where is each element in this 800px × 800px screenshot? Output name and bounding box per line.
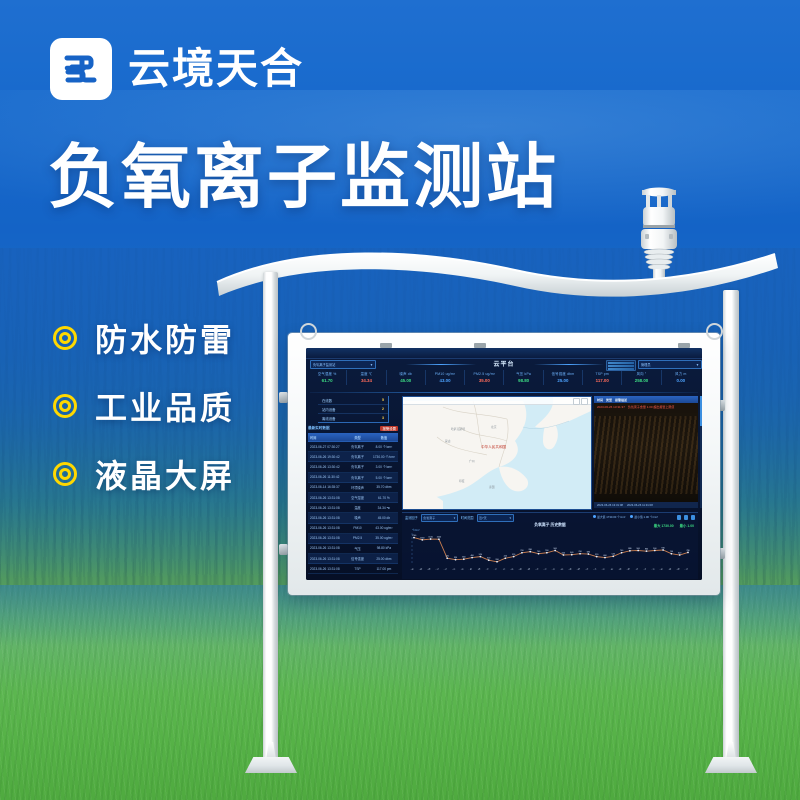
chart-legend: 最大值 1730.00 个/cm³ 最小值 1.00 个/cm³ — [593, 515, 658, 519]
table-row[interactable]: 2023-06-26 13:31:08气压98.80 kPa — [308, 544, 398, 554]
cabinet-latch — [380, 343, 392, 348]
realtime-data-table: 时间 类型 数值 2023-06-27 07:30:27负氧离子8.00 个/c… — [308, 433, 398, 574]
cell-type: TSP — [345, 567, 370, 571]
cell-time: 2023-06-27 07:30:27 — [308, 445, 345, 449]
line-chart-icon[interactable] — [684, 515, 688, 520]
cell-value: 43.00 ug/m³ — [370, 526, 398, 530]
left-bracket-upper — [279, 392, 288, 403]
chart-tool-icons[interactable] — [677, 515, 695, 520]
camera-timestamp-left: 2023-06-26 13:31:08 — [597, 503, 623, 507]
table-row[interactable]: 2023-06-26 13:30:42负氧离子3.00 个/cm³ — [308, 462, 398, 472]
cell-time: 2023-06-26 13:31:08 — [308, 557, 345, 561]
bar-chart-icon[interactable] — [677, 515, 681, 520]
cell-time: 2023-06-26 13:31:08 — [308, 526, 345, 530]
factor-select[interactable]: 负氧离子 ▾ — [421, 514, 458, 522]
camera-feed-panel[interactable]: 时间 类型 报警描述 2023-06-26 13:31:37 负氧离子含量 1.… — [594, 396, 698, 508]
account-select[interactable]: 管理员 ▼ — [638, 360, 702, 369]
cell-value: 98.80 kPa — [370, 546, 398, 550]
metric-card: 噪声 db 45.00 — [386, 370, 425, 385]
cell-type: 信号强度 — [345, 556, 370, 561]
chevron-down-icon: ▾ — [509, 516, 511, 520]
readout-max: 最大 1730.00 — [654, 523, 674, 528]
history-chart-panel: 监测因子 负氧离子 ▾ 时间范围 近7天 ▾ 最大值 1730 — [402, 512, 698, 579]
readout-min: 最小 1.00 — [680, 523, 694, 528]
metric-value: 35.00 — [465, 377, 503, 384]
cell-time: 2023-06-26 13:31:08 — [308, 546, 345, 550]
cell-type: 噪声 — [345, 515, 370, 520]
map-city-label: 蒙古 — [445, 439, 451, 443]
metric-underline — [310, 392, 698, 393]
cell-type: 负氧离子 — [345, 475, 370, 480]
chevron-down-icon: ▼ — [370, 363, 373, 367]
stat-label: 离线设备 — [322, 416, 336, 421]
range-select-value: 近7天 — [479, 516, 487, 520]
metric-value: 0.00 — [662, 377, 700, 384]
chart-filter-bar: 监测因子 负氧离子 ▾ 时间范围 近7天 ▾ 最大值 1730 — [402, 513, 698, 522]
metric-card: PM2.5 ug/m³ 35.00 — [464, 370, 503, 385]
metric-card: TSP pm 117.00 — [582, 370, 621, 385]
cell-value: 5.00 个/cm³ — [370, 475, 398, 480]
metric-card: 风力 m 0.00 — [661, 370, 700, 385]
cell-value: 35.70 dbm — [370, 485, 398, 489]
alarm-col-desc: 报警描述 — [612, 398, 627, 402]
metric-value: 258.00 — [622, 377, 660, 384]
cell-type: PM2.5 — [345, 536, 370, 540]
cell-time: 2023-06-26 13:31:08 — [308, 536, 345, 540]
stat-row: 站内设备 2 — [318, 405, 388, 414]
station-map[interactable]: 中华人民共和国 哈萨克斯坦 北京 蒙古 广州 印度 泰国 — [402, 396, 592, 510]
table-row[interactable]: 2023-06-26 19:30:42负氧离子1730.00 个/cm³ — [308, 452, 398, 462]
alarm-row[interactable]: 2023-06-26 13:31:37 负氧离子含量 1.00 超出报警上限值 — [594, 403, 698, 410]
stat-label: 站内设备 — [322, 407, 336, 412]
display-cabinet: 云平台 负氧离子监测站 ▼ 管理员 ▼ — [288, 333, 720, 595]
map-zoom-out-button[interactable] — [573, 398, 580, 405]
metric-value: 25.00 — [544, 377, 582, 384]
metric-value: 61.70 — [308, 377, 346, 384]
metric-card: 空气湿度 % 61.70 — [308, 370, 346, 385]
map-toolbar[interactable] — [403, 397, 591, 405]
range-select[interactable]: 近7天 ▾ — [477, 514, 514, 522]
table-row[interactable]: 2023-06-26 13:31:08噪声45.00 db — [308, 513, 398, 523]
table-row[interactable]: 2023-06-26 13:31:08PM1043.00 ug/m³ — [308, 524, 398, 534]
metric-strip: 空气湿度 % 61.70 温度 ℃ 34.34 噪声 db 45.00 PM — [308, 370, 700, 385]
metric-value: 98.80 — [504, 377, 542, 384]
table-caption-bar: 最新实时数据 报警设置 — [308, 426, 398, 431]
table-caption: 最新实时数据 — [308, 426, 330, 431]
factor-filter-label: 监测因子 — [405, 515, 418, 520]
cell-time: 2023-06-26 13:31:08 — [308, 496, 345, 500]
column-header-type: 类型 — [345, 435, 370, 440]
cell-value: 35.00 ug/m³ — [370, 536, 398, 540]
metric-value: 34.34 — [347, 377, 385, 384]
stat-row: 在线数 5 — [318, 396, 388, 405]
station-select[interactable]: 负氧离子监测站 ▼ — [310, 360, 376, 369]
left-base-plate — [245, 757, 297, 773]
alarm-settings-button[interactable]: 报警设置 — [380, 426, 398, 431]
metric-value: 45.00 — [387, 377, 425, 384]
cell-type: 负氧离子 — [345, 444, 370, 449]
metric-value: 43.00 — [426, 377, 464, 384]
cell-type: PM10 — [345, 526, 370, 530]
metric-card: 温度 ℃ 34.34 — [346, 370, 385, 385]
camera-image — [594, 416, 698, 494]
cell-value: 117.00 pm — [370, 567, 398, 571]
factor-select-value: 负氧离子 — [423, 516, 435, 520]
dashboard-screen: 云平台 负氧离子监测站 ▼ 管理员 ▼ — [306, 348, 702, 580]
cell-time: 2023-06-26 19:30:42 — [308, 455, 345, 459]
title-decor-left — [406, 364, 476, 365]
map-city-label: 印度 — [459, 479, 465, 483]
cell-time: 2023-06-26 13:31:08 — [308, 506, 345, 510]
legend-label: 最大值 1730.00 个/cm³ — [597, 515, 625, 519]
cell-time: 2023-06-26 13:31:08 — [308, 567, 345, 571]
cell-type: 负氧离子 — [345, 464, 370, 469]
left-bracket-lower — [279, 544, 288, 555]
metric-card: 气压 kPa 98.80 — [503, 370, 542, 385]
camera-footer: 2023-06-26 13:31:08 2023-06-26 11:31:08 — [594, 502, 698, 508]
cell-time: 2023-06-26 13:31:08 — [308, 516, 345, 520]
account-select-value: 管理员 — [641, 362, 651, 367]
cell-type: 负氧离子 — [345, 454, 370, 459]
display-bezel: 云平台 负氧离子监测站 ▼ 管理员 ▼ — [306, 348, 702, 580]
map-city-label: 广州 — [469, 459, 475, 463]
map-country-label: 中华人民共和国 — [481, 445, 506, 450]
cell-time: 2023-06-26 11:30:42 — [308, 475, 345, 479]
cell-type: 温度 — [345, 505, 370, 510]
table-row[interactable]: 2023-06-26 13:31:08PM2.535.00 ug/m³ — [308, 534, 398, 544]
table-row[interactable]: 2023-06-14 16:35:37环境噪声35.70 dbm — [308, 483, 398, 493]
right-base-plate — [705, 757, 757, 773]
metric-card: 风向 ° 258.00 — [621, 370, 660, 385]
legend-label: 最小值 1.00 个/cm³ — [634, 515, 658, 519]
alarm-col-time: 时间 — [594, 398, 603, 402]
monitoring-station: 云平台 负氧离子监测站 ▼ 管理员 ▼ — [0, 0, 800, 800]
alarm-text: 负氧离子含量 1.00 超出报警上限值 — [625, 405, 675, 409]
chart-readout: 最大 1730.00 最小 1.00 — [654, 523, 694, 528]
chevron-down-icon: ▼ — [696, 363, 699, 367]
alarm-time: 2023-06-26 13:31:37 — [594, 405, 625, 409]
cell-value: 25.00 dbm — [370, 557, 398, 561]
lifting-eye-icon — [300, 323, 317, 340]
cell-type: 空气湿度 — [345, 495, 370, 500]
alarm-col-type: 类型 — [603, 398, 612, 402]
map-city-label: 哈萨克斯坦 — [451, 427, 465, 431]
cell-value: 34.34 ℃ — [370, 506, 398, 510]
right-support-post — [723, 290, 739, 762]
stat-label: 在线数 — [322, 398, 332, 403]
metric-value: 117.00 — [583, 377, 621, 384]
cabinet-latch — [474, 343, 486, 348]
lifting-eye-icon — [706, 323, 723, 340]
table-row[interactable]: 2023-06-26 13:31:08温度34.34 ℃ — [308, 503, 398, 513]
download-icon[interactable] — [691, 515, 695, 520]
stat-row: 离线设备 3 — [318, 414, 388, 423]
camera-timestamp-right: 2023-06-26 11:31:08 — [627, 503, 653, 507]
metric-card: 信号强度 dbm 25.00 — [543, 370, 582, 385]
cabinet-latch — [678, 343, 690, 348]
product-poster: 云境天合 负氧离子监测站 防水防雷 工业品质 液晶大屏 — [0, 0, 800, 800]
table-row[interactable]: 2023-06-26 13:31:08空气湿度61.70 % — [308, 493, 398, 503]
table-row[interactable]: 2023-06-27 07:30:27负氧离子8.00 个/cm³ — [308, 442, 398, 452]
cell-value: 45.00 db — [370, 516, 398, 520]
cell-type: 气压 — [345, 546, 370, 551]
map-city-label: 泰国 — [489, 485, 495, 489]
table-row[interactable]: 2023-06-26 13:31:08信号强度25.00 dbm — [308, 554, 398, 564]
stat-value: 3 — [382, 416, 384, 420]
cell-time: 2023-06-14 16:35:37 — [308, 485, 345, 489]
metric-card: PM10 ug/m³ 43.00 — [425, 370, 464, 385]
table-header-row: 时间 类型 数值 — [308, 433, 398, 442]
legend-item-min: 最小值 1.00 个/cm³ — [630, 515, 658, 519]
column-header-value: 数值 — [370, 435, 398, 440]
cell-value: 61.70 % — [370, 496, 398, 500]
stat-value: 5 — [382, 398, 384, 402]
cell-time: 2023-06-26 13:30:42 — [308, 465, 345, 469]
column-header-time: 时间 — [308, 435, 345, 440]
cell-value: 8.00 个/cm³ — [370, 444, 398, 449]
chart-plot — [410, 530, 692, 570]
chevron-down-icon: ▾ — [454, 516, 456, 520]
table-row[interactable]: 2023-06-26 11:30:42负氧离子5.00 个/cm³ — [308, 473, 398, 483]
map-zoom-in-button[interactable] — [581, 398, 588, 405]
wave-canopy — [215, 248, 780, 308]
range-filter-label: 时间范围 — [461, 515, 474, 520]
legend-item-max: 最大值 1730.00 个/cm³ — [593, 515, 625, 519]
screen-topbar — [306, 348, 702, 359]
left-support-post — [263, 272, 278, 762]
cell-value: 1730.00 个/cm³ — [370, 454, 398, 459]
table-row[interactable]: 2023-06-26 13:31:08TSP117.00 pm — [308, 564, 398, 574]
title-decor-right — [534, 364, 604, 365]
station-select-value: 负氧离子监测站 — [313, 362, 335, 367]
panel-scrollbar[interactable] — [700, 396, 702, 508]
stat-value: 2 — [382, 407, 384, 411]
cell-value: 3.00 个/cm³ — [370, 464, 398, 469]
map-city-label: 北京 — [491, 425, 497, 429]
alarm-header-row: 时间 类型 报警描述 — [594, 396, 698, 403]
cell-type: 环境噪声 — [345, 485, 370, 490]
device-stats-panel: 在线数 5 站内设备 2 离线设备 3 — [318, 396, 389, 423]
